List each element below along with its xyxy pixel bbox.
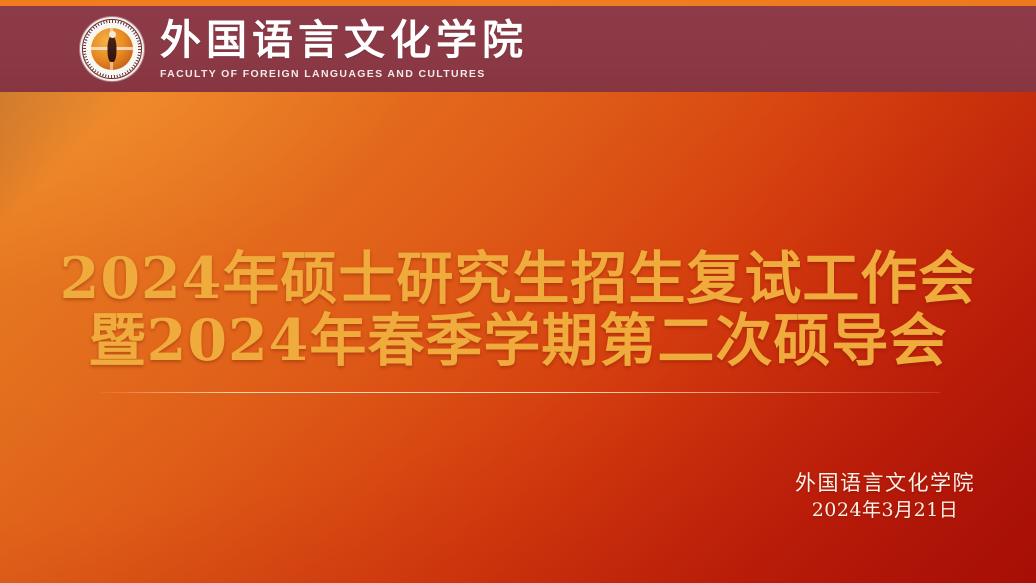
seal-inner-disc [91,28,133,70]
slide-title: 2024年硕士研究生招生复试工作会 暨2024年春季学期第二次硕导会 [0,248,1036,372]
footer-organization: 外国语言文化学院 [795,470,975,497]
org-name-chinese: 外国语言文化学院 [160,18,528,62]
title-line-2: 暨2024年春季学期第二次硕导会 [0,310,1036,372]
title-line-1: 2024年硕士研究生招生复试工作会 [0,248,1036,310]
header-text-group: 外国语言文化学院 FACULTY OF FOREIGN LANGUAGES AN… [160,18,528,79]
presentation-slide: 外国语言文化学院 FACULTY OF FOREIGN LANGUAGES AN… [0,0,1036,583]
slide-footer: 外国语言文化学院 2024年3月21日 [795,470,975,523]
university-seal-icon [80,17,144,81]
seal-figure [108,36,117,62]
title-divider [100,392,940,393]
footer-date: 2024年3月21日 [795,497,975,523]
header-content: 外国语言文化学院 FACULTY OF FOREIGN LANGUAGES AN… [80,6,528,92]
org-name-english: FACULTY OF FOREIGN LANGUAGES AND CULTURE… [160,68,528,80]
